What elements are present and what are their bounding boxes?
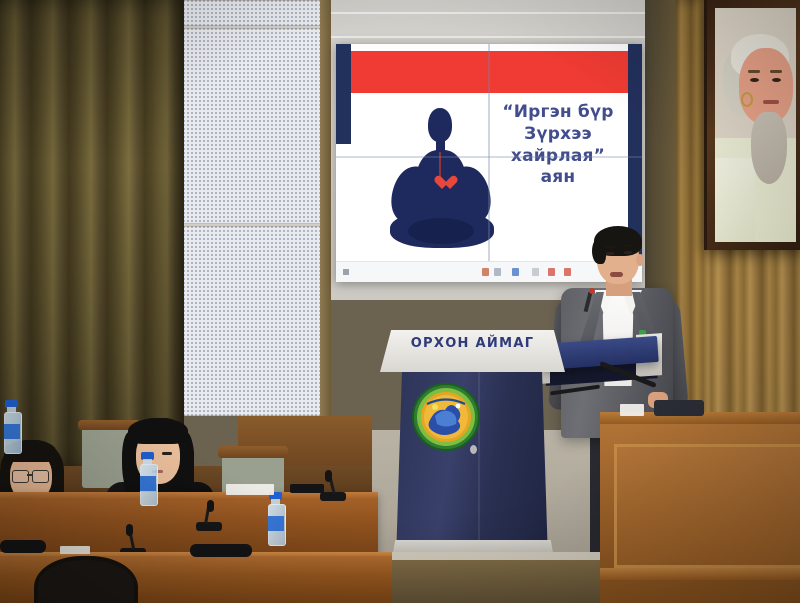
slide-line-1: “Иргэн бүр (488, 102, 628, 124)
microphone-on-desk (0, 540, 46, 553)
app-icon[interactable] (548, 268, 555, 276)
right-desk-base-trim (600, 568, 800, 580)
glasses-icon (32, 470, 49, 483)
portrait-frame (704, 0, 800, 250)
acoustic-panel-edge (320, 0, 331, 420)
stage-curtain-shading (0, 0, 184, 470)
genghis-khan-portrait (715, 8, 796, 242)
screen-panel-seam (336, 156, 642, 158)
phone-device (290, 484, 324, 493)
app-icon[interactable] (494, 268, 501, 276)
right-desk-inlay (614, 444, 800, 568)
middle-desk (0, 492, 378, 554)
app-icon[interactable] (564, 268, 571, 276)
meditating-figure-icon (386, 106, 496, 251)
microphone-indicator-icon (589, 288, 595, 294)
app-icon[interactable] (482, 268, 489, 276)
chair-frame (218, 446, 288, 458)
app-icon[interactable] (512, 268, 519, 276)
orkhon-aimag-emblem-icon (411, 382, 481, 452)
paper-document (60, 546, 90, 554)
slide-text: “Иргэн бүр Зүрхээ хайрлая” аян (488, 102, 628, 189)
screen-left-edge (336, 44, 351, 144)
paper-document (620, 404, 644, 416)
heart-icon (434, 176, 450, 192)
windows-taskbar[interactable] (336, 261, 642, 282)
screen-panel-seam (488, 44, 490, 282)
glasses-icon (12, 470, 29, 483)
microphone-on-desk (190, 544, 252, 557)
conference-hall-photo: “Иргэн бүр Зүрхээ хайрлая” аян (0, 0, 800, 603)
slide-line-4: аян (488, 167, 628, 189)
acoustic-panel (183, 0, 324, 26)
podium-label: ОРХОН АЙМАГ (380, 336, 565, 351)
start-icon[interactable] (343, 269, 349, 275)
desk-equipment (654, 400, 704, 416)
paper-document (226, 484, 274, 495)
slide-line-2: Зүрхээ (488, 124, 628, 146)
app-icon[interactable] (532, 268, 539, 276)
acoustic-panel (183, 226, 324, 416)
acoustic-panel (183, 28, 324, 224)
